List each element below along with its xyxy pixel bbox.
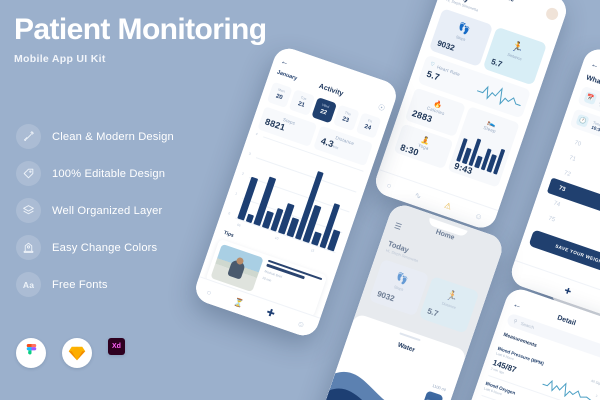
syringe-icon [16,124,41,149]
nav-add-icon[interactable]: ✚ [265,307,277,320]
distance-unit: km [332,144,339,151]
clock-icon: 🕐 [576,114,590,128]
bell-icon[interactable]: ☉ [377,102,387,113]
palette-icon [16,235,41,260]
xd-glyph: Xd [112,343,121,350]
search-placeholder: Search [520,321,535,330]
font-icon: Aa [16,272,41,297]
nav-profile-icon[interactable]: ☺ [473,210,484,221]
feature-label: Well Organized Layer [52,205,162,217]
feature-item-free-fonts: Aa Free Fonts [16,266,276,303]
search-icon: ⚲ [513,318,518,325]
tile-steps-value: 9032 [436,38,456,52]
wheel-left-selected: 73 [558,185,566,193]
app-badges: Xd [16,338,125,368]
xtick-2: 15 [310,248,315,253]
day-mon[interactable]: Mon 20 [267,82,293,108]
layers-icon [16,198,41,223]
feature-item-clean-modern-design: Clean & Modern Design [16,118,276,155]
wheel-left-0: 70 [573,140,581,148]
day-fri[interactable]: Fri 24 [355,112,381,138]
nav-activity-icon[interactable]: ∿ [414,190,423,201]
feature-label: 100% Editable Design [52,168,165,180]
heart-icon: ♡ [429,61,435,68]
calendar-icon: 📅 [583,91,597,105]
feature-label: Clean & Modern Design [52,131,174,143]
figma-icon [16,338,46,368]
time-value: 10:39 PM [591,124,600,135]
nav-alerts-icon[interactable]: ⚠ [443,200,453,211]
day-wed-selected[interactable]: Wed 22 [311,97,337,123]
font-glyph: Aa [23,280,34,290]
feature-list: Clean & Modern Design 100% Editable Desi… [16,118,276,303]
tile-steps-value: 9032 [376,289,396,303]
xd-icon: Xd [108,338,125,355]
sketch-icon [62,338,92,368]
wheel-left-1: 71 [568,155,576,163]
wheel-left-5: 75 [547,216,555,224]
feature-item-editable-design: 100% Editable Design [16,155,276,192]
hero-block: Patient Monitoring Mobile App UI Kit [14,14,294,65]
tag-icon [16,161,41,186]
feature-label: Easy Change Colors [52,242,157,254]
page-title: Patient Monitoring [14,14,294,46]
nav-home-icon[interactable]: ○ [386,180,394,190]
feature-item-easy-change-colors: Easy Change Colors [16,229,276,266]
day-thu[interactable]: Thu 23 [333,105,359,131]
nav-add-icon[interactable]: ✚ [563,285,572,296]
poster-canvas: ● ← What's Your Weight? 📅 04.12 Today 🕐 [0,0,600,400]
wheel-left-4: 74 [553,201,561,209]
back-arrow[interactable]: ← [512,298,524,310]
tile-distance-value: 5.7 [490,57,503,69]
month-label[interactable]: January [276,69,298,82]
feature-label: Free Fonts [52,279,108,291]
feature-item-well-organized-layer: Well Organized Layer [16,192,276,229]
wheel-left-2: 72 [563,170,571,178]
page-subtitle: Mobile App UI Kit [14,53,294,65]
nav-profile-icon[interactable]: ☺ [296,318,307,329]
tile-distance-value: 5.7 [426,306,439,318]
day-tue[interactable]: Tue 21 [289,89,315,115]
